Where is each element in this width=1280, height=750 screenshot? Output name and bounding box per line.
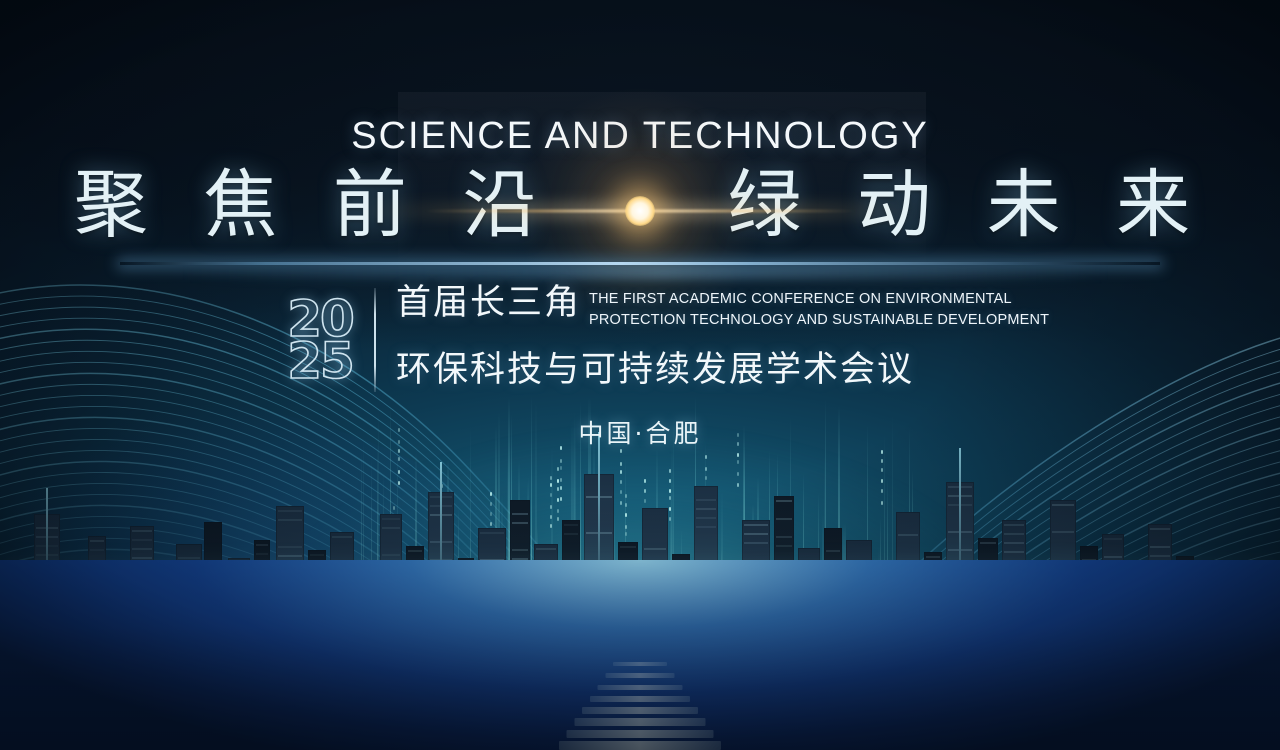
location-label: 中国·合肥 <box>0 414 1280 450</box>
english-subtitle-line2: PROTECTION TECHNOLOGY AND SUSTAINABLE DE… <box>589 310 1049 331</box>
year-badge: 20 25 <box>272 286 368 394</box>
crosswalk-stripe <box>567 730 714 738</box>
year-bottom: 25 <box>287 338 353 384</box>
english-subtitle: THE FIRST ACADEMIC CONFERENCE ON ENVIRON… <box>589 289 1049 331</box>
subtitle-row-1: 首届长三角 THE FIRST ACADEMIC CONFERENCE ON E… <box>396 286 1049 331</box>
english-subtitle-line1: THE FIRST ACADEMIC CONFERENCE ON ENVIRON… <box>589 289 1049 310</box>
crosswalk-stripe <box>606 673 675 678</box>
subtitle-block: 20 25 首届长三角 THE FIRST ACADEMIC CONFERENC… <box>272 286 1049 394</box>
crosswalk-stripe <box>613 662 667 666</box>
crosswalk-stripe <box>598 685 683 690</box>
horizontal-beam-glow <box>180 266 1110 280</box>
crosswalk-stripe <box>575 718 706 726</box>
year-divider <box>374 288 376 392</box>
crosswalk-stripe <box>559 741 721 750</box>
chinese-subtitle-line2: 环保科技与可持续发展学术会议 <box>396 353 1049 388</box>
glowing-dot-icon <box>625 196 655 226</box>
conference-poster: SCIENCE AND TECHNOLOGY 聚 焦 前 沿 绿 动 未 来 2… <box>0 0 1280 750</box>
crosswalk-stripe <box>582 707 698 714</box>
crosswalk-stripe <box>590 696 690 702</box>
ground-plane <box>0 560 1280 750</box>
chinese-subtitle-line1: 首届长三角 <box>396 286 581 321</box>
subtitle-text-group: 首届长三角 THE FIRST ACADEMIC CONFERENCE ON E… <box>396 286 1049 388</box>
horizontal-light-beam <box>120 262 1160 265</box>
crosswalk <box>545 660 735 750</box>
